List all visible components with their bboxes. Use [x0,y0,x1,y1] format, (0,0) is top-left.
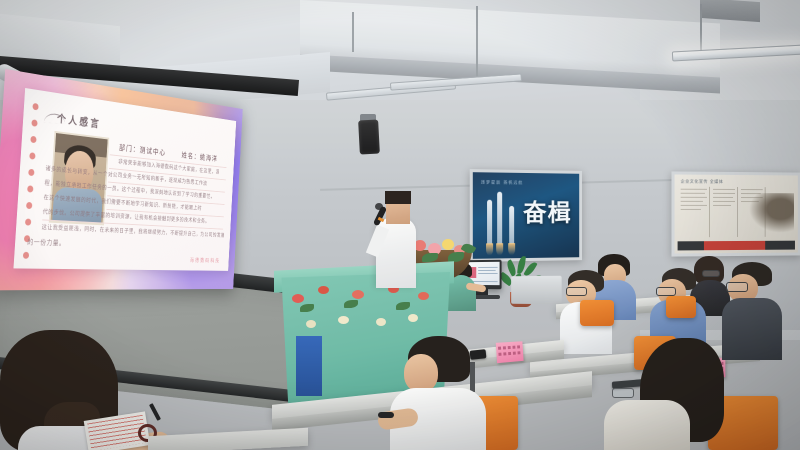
attendee-woman-white-blouse [604,338,724,450]
poster-newsboard-band [678,241,795,251]
projection-screen: 个人感言 部门：测试中心 姓名：姚海洋 非常荣幸能够加入海德数码这个大家庭，在这… [0,69,243,290]
binding-dot [30,136,36,143]
attendee-front-white-tshirt [390,336,486,450]
light-rod [700,4,702,52]
poster-rocket-title: 奋楫 [523,193,572,228]
poster-newsboard-header: 企业文化宣传 全媒体 [681,179,724,185]
wall-speaker [358,119,380,154]
attendee-dark-shirt-man [722,262,782,358]
printer [511,276,561,304]
binding-dot [27,185,33,192]
slide-heading: 个人感言 [57,110,102,131]
binding-dot [22,252,28,259]
presentation-room-photo: 个人感言 部门：测试中心 姓名：姚海洋 非常荣幸能够加入海德数码这个大家庭，在这… [0,0,800,450]
podium-panel [296,336,322,396]
binding-dot [26,202,32,209]
desk-foreground [148,428,308,450]
binding-dot [25,218,31,225]
wristwatch [378,412,394,418]
poster-rocket-subtitle: 逐梦星辰 扬帆远航 [481,179,523,186]
name-card [496,341,524,363]
slide-name: 姓名：姚海洋 [181,150,218,163]
poster-eagle-illustration [749,193,794,233]
binding-dot [29,152,35,159]
binding-dot [28,169,34,176]
slide-closing-line: 的一份力量。 [27,237,65,248]
binding-dot [31,119,37,127]
poster-newsboard: 企业文化宣传 全媒体 [671,171,800,256]
light-rod [352,12,354,52]
poster-rocket: 逐梦星辰 扬帆远航 奋楫 [470,169,582,262]
binding-dot [32,103,38,111]
slide-footer: 海德数码科技 [190,256,221,264]
chair [666,296,696,318]
slide-binding-dots [21,103,40,259]
light-rod [476,6,478,78]
chair [580,300,614,326]
slide-card: 个人感言 部门：测试中心 姓名：姚海洋 非常荣幸能够加入海德数码这个大家庭，在这… [13,88,236,271]
presenter-hair [385,191,411,204]
